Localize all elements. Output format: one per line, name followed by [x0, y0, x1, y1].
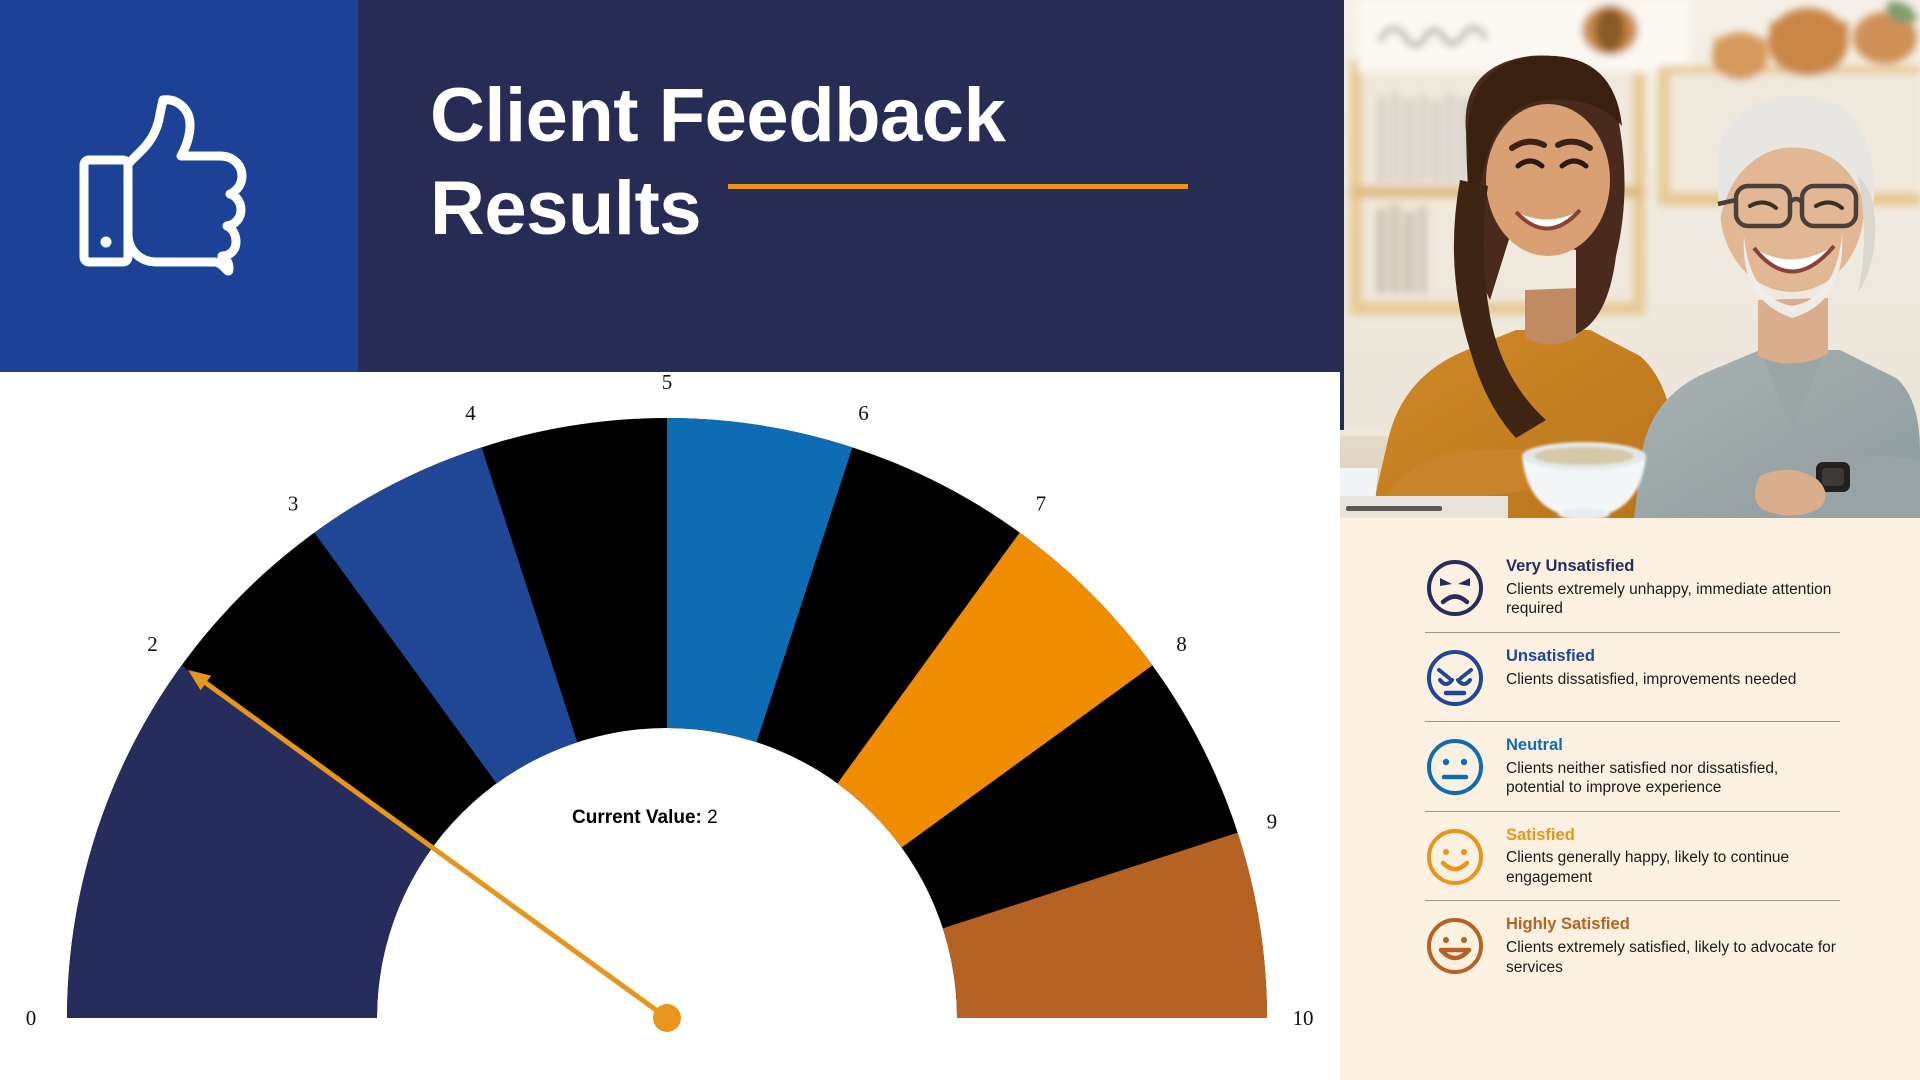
current-value-number: 2 [707, 807, 718, 828]
header-banner: Client Feedback Results [0, 0, 1340, 372]
list-item[interactable]: Satisfied Clients generally happy, likel… [1425, 811, 1840, 901]
grin-face-icon [1425, 916, 1485, 976]
gauge-tick-label: 0 [26, 1006, 37, 1030]
gauge-tick-label: 4 [465, 401, 476, 425]
legend-text: Unsatisfied Clients dissatisfied, improv… [1506, 645, 1840, 689]
legend-list: Very Unsatisfied Clients extremely unhap… [1425, 543, 1840, 990]
page-title: Client Feedback Results [430, 70, 1310, 255]
legend-desc: Clients extremely unhappy, immediate att… [1506, 580, 1840, 619]
gauge-bands [67, 418, 1267, 1018]
client-photo [1340, 0, 1920, 518]
list-item[interactable]: Unsatisfied Clients dissatisfied, improv… [1425, 632, 1840, 721]
legend-desc: Clients neither satisfied nor dissatisfi… [1506, 759, 1840, 798]
current-value-label: Current Value: 2 [572, 807, 718, 829]
smile-face-icon [1425, 827, 1485, 887]
title-line-1: Client Feedback [430, 70, 1310, 163]
gauge-tick-label: 10 [1293, 1006, 1314, 1030]
legend-desc: Clients dissatisfied, improvements neede… [1506, 670, 1840, 690]
gauge-tick-label: 2 [147, 632, 158, 656]
legend-text: Highly Satisfied Clients extremely satis… [1506, 913, 1840, 977]
satisfaction-gauge: 02345678910 Current Value: 2 [0, 372, 1340, 1080]
list-item[interactable]: Very Unsatisfied Clients extremely unhap… [1425, 543, 1840, 632]
legend-text: Neutral Clients neither satisfied nor di… [1506, 734, 1840, 798]
list-item[interactable]: Highly Satisfied Clients extremely satis… [1425, 900, 1840, 990]
gauge-tick-label: 9 [1267, 809, 1278, 833]
legend-title: Very Unsatisfied [1506, 557, 1840, 577]
angry-face-icon [1425, 558, 1485, 618]
legend-text: Satisfied Clients generally happy, likel… [1506, 824, 1840, 888]
list-item[interactable]: Neutral Clients neither satisfied nor di… [1425, 721, 1840, 811]
title-line-2: Results [430, 163, 1310, 256]
satisfaction-legend-panel: Very Unsatisfied Clients extremely unhap… [1340, 518, 1920, 1080]
gauge-tick-label: 7 [1036, 491, 1047, 515]
neutral-face-icon [1425, 737, 1485, 797]
gauge-tick-label: 5 [662, 372, 673, 394]
legend-title: Unsatisfied [1506, 647, 1840, 667]
slide-root: Client Feedback Results [0, 0, 1920, 1080]
title-underline-rule [728, 184, 1188, 189]
current-value-prefix: Current Value: [572, 807, 702, 828]
legend-title: Highly Satisfied [1506, 915, 1840, 935]
sad-face-icon [1425, 648, 1485, 708]
legend-desc: Clients extremely satisfied, likely to a… [1506, 938, 1840, 977]
thumbs-up-icon [78, 92, 268, 282]
legend-text: Very Unsatisfied Clients extremely unhap… [1506, 555, 1840, 619]
needle-hub [653, 1004, 681, 1032]
legend-title: Neutral [1506, 736, 1840, 756]
gauge-tick-label: 3 [288, 491, 299, 515]
gauge-tick-label: 6 [858, 401, 869, 425]
legend-desc: Clients generally happy, likely to conti… [1506, 848, 1840, 887]
gauge-tick-label: 8 [1176, 632, 1187, 656]
legend-title: Satisfied [1506, 826, 1840, 846]
